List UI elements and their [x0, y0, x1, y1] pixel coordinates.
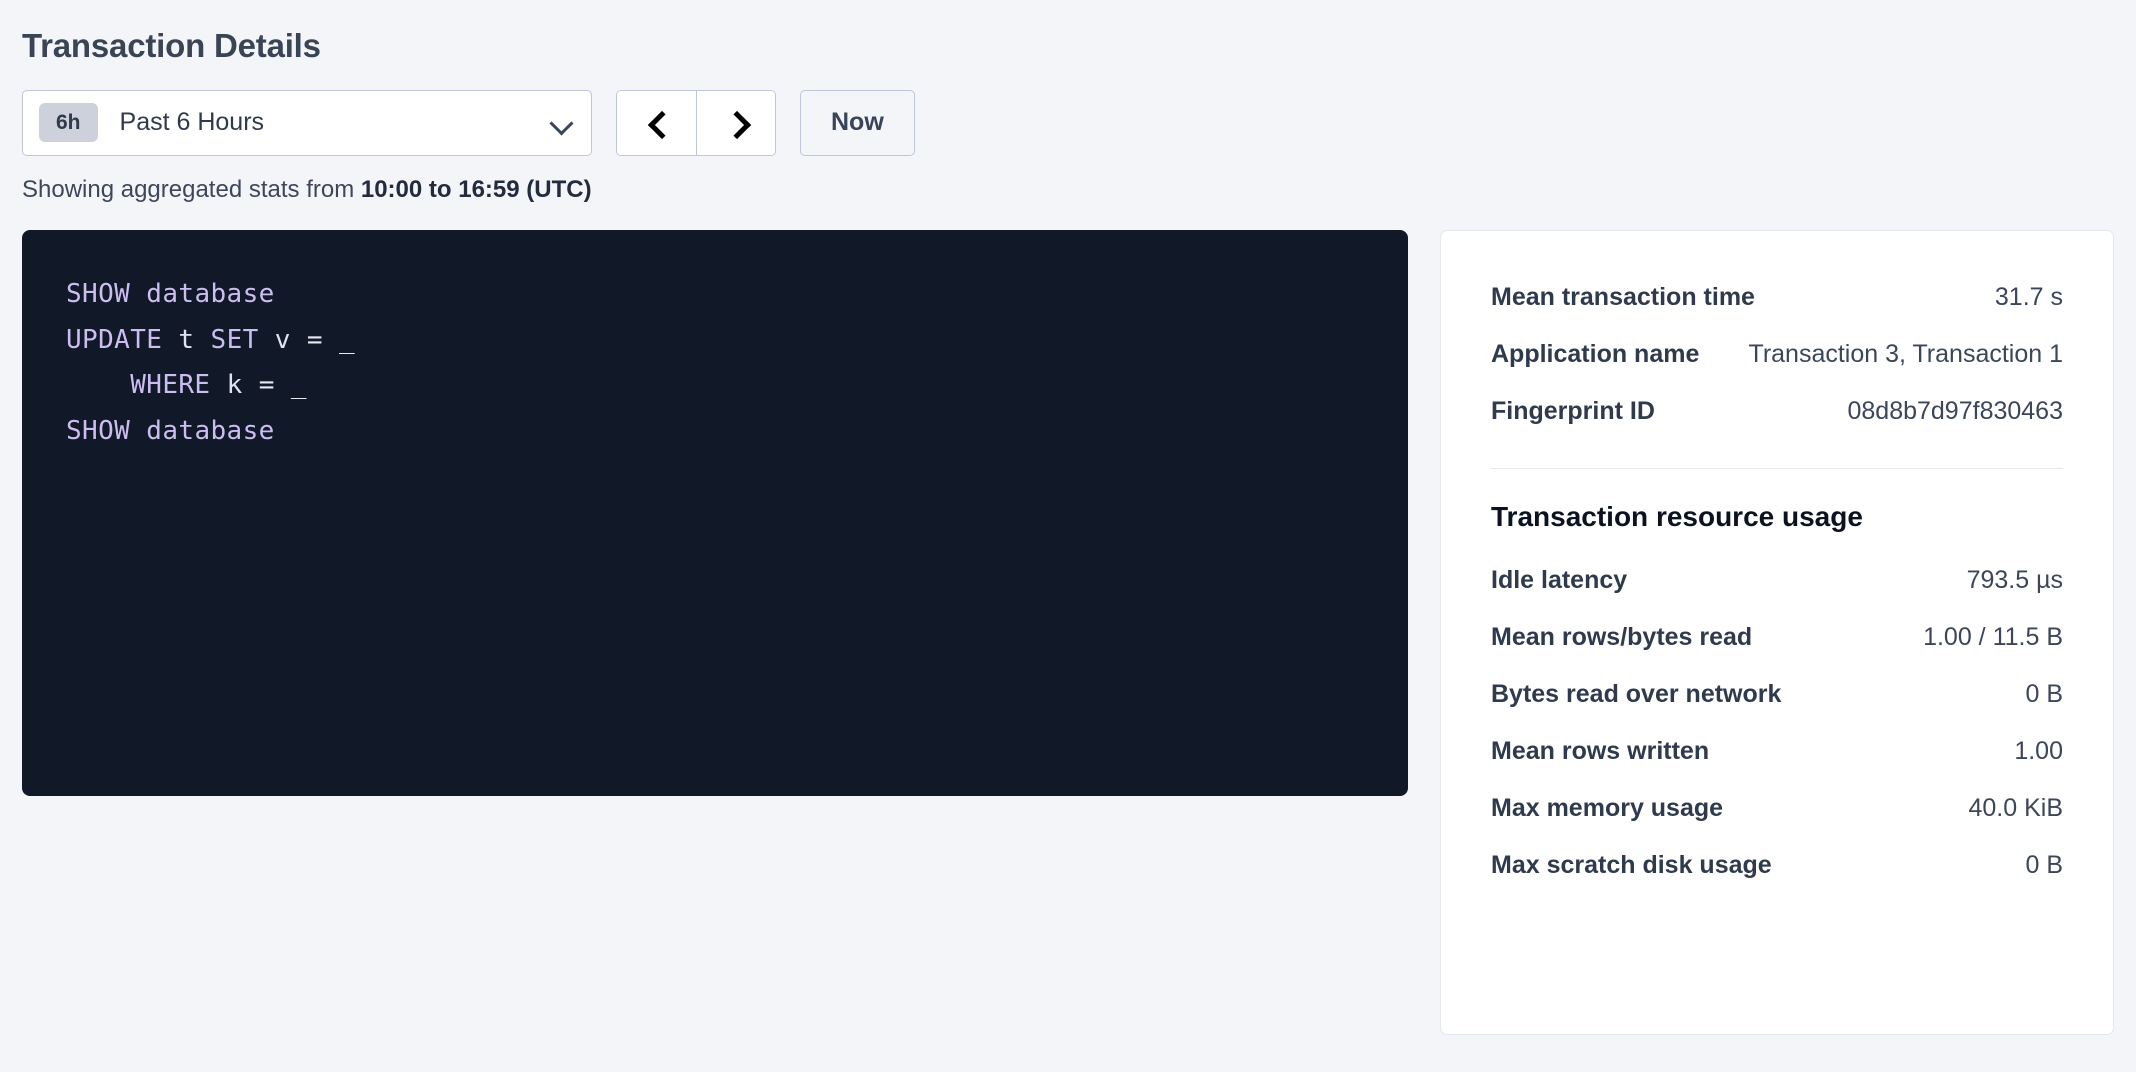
- stat-value: 0 B: [2025, 680, 2063, 709]
- detail-row: Mean transaction time31.7 s: [1491, 269, 2063, 326]
- page-title: Transaction Details: [22, 26, 2114, 66]
- time-range-badge: 6h: [39, 103, 98, 142]
- resource-usage-title: Transaction resource usage: [1491, 499, 2063, 535]
- transaction-details-page: Transaction Details 6h Past 6 Hours Now …: [0, 0, 2136, 1072]
- usage-row: Idle latency793.5 µs: [1491, 552, 2063, 609]
- toolbar: 6h Past 6 Hours Now: [22, 90, 2114, 156]
- stat-value: 1.00 / 11.5 B: [1923, 623, 2063, 652]
- stat-label: Mean rows written: [1491, 737, 1709, 766]
- stat-value: 40.0 KiB: [1968, 794, 2063, 823]
- stat-label: Mean transaction time: [1491, 283, 1755, 312]
- detail-row: Application nameTransaction 3, Transacti…: [1491, 326, 2063, 383]
- stat-label: Max scratch disk usage: [1491, 851, 1772, 880]
- chevron-right-icon: [726, 113, 746, 133]
- stat-value: 793.5 µs: [1967, 566, 2063, 595]
- stat-label: Fingerprint ID: [1491, 397, 1655, 426]
- aggregation-range-prefix: Showing aggregated stats from: [22, 176, 361, 203]
- stat-value: 1.00: [2014, 737, 2063, 766]
- stat-label: Application name: [1491, 340, 1699, 369]
- stat-label: Bytes read over network: [1491, 680, 1781, 709]
- stat-value: 0 B: [2025, 851, 2063, 880]
- usage-row: Max memory usage40.0 KiB: [1491, 780, 2063, 837]
- previous-period-button[interactable]: [617, 91, 696, 155]
- content-area: SHOW databaseUPDATE t SET v = _ WHERE k …: [22, 230, 2114, 1035]
- sql-statement-text: SHOW databaseUPDATE t SET v = _ WHERE k …: [66, 272, 1364, 454]
- sql-statement-panel[interactable]: SHOW databaseUPDATE t SET v = _ WHERE k …: [22, 230, 1408, 796]
- sql-line: UPDATE t SET v = _: [66, 318, 1364, 364]
- now-button[interactable]: Now: [800, 90, 915, 156]
- stat-label: Idle latency: [1491, 566, 1627, 595]
- aggregation-range-value: 10:00 to 16:59 (UTC): [361, 176, 592, 203]
- stat-value: Transaction 3, Transaction 1: [1748, 340, 2063, 369]
- sql-line: SHOW database: [66, 409, 1364, 455]
- stat-value: 31.7 s: [1995, 283, 2063, 312]
- stat-label: Mean rows/bytes read: [1491, 623, 1752, 652]
- time-nav-group: [616, 90, 776, 156]
- transaction-details-list: Mean transaction time31.7 sApplication n…: [1491, 269, 2063, 440]
- chevron-down-icon: [551, 112, 573, 134]
- usage-row: Bytes read over network0 B: [1491, 666, 2063, 723]
- section-divider: [1491, 468, 2063, 469]
- stat-label: Max memory usage: [1491, 794, 1723, 823]
- usage-row: Mean rows written1.00: [1491, 723, 2063, 780]
- transaction-info-card: Mean transaction time31.7 sApplication n…: [1440, 230, 2114, 1035]
- aggregation-range-text: Showing aggregated stats from 10:00 to 1…: [22, 176, 2114, 205]
- usage-row: Mean rows/bytes read1.00 / 11.5 B: [1491, 609, 2063, 666]
- next-period-button[interactable]: [696, 91, 775, 155]
- time-range-label: Past 6 Hours: [120, 110, 551, 135]
- resource-usage-list: Idle latency793.5 µsMean rows/bytes read…: [1491, 552, 2063, 894]
- detail-row: Fingerprint ID08d8b7d97f830463: [1491, 383, 2063, 440]
- time-range-select[interactable]: 6h Past 6 Hours: [22, 90, 592, 156]
- sql-line: WHERE k = _: [66, 363, 1364, 409]
- chevron-left-icon: [647, 113, 667, 133]
- usage-row: Max scratch disk usage0 B: [1491, 837, 2063, 894]
- stat-value: 08d8b7d97f830463: [1847, 397, 2063, 426]
- sql-line: SHOW database: [66, 272, 1364, 318]
